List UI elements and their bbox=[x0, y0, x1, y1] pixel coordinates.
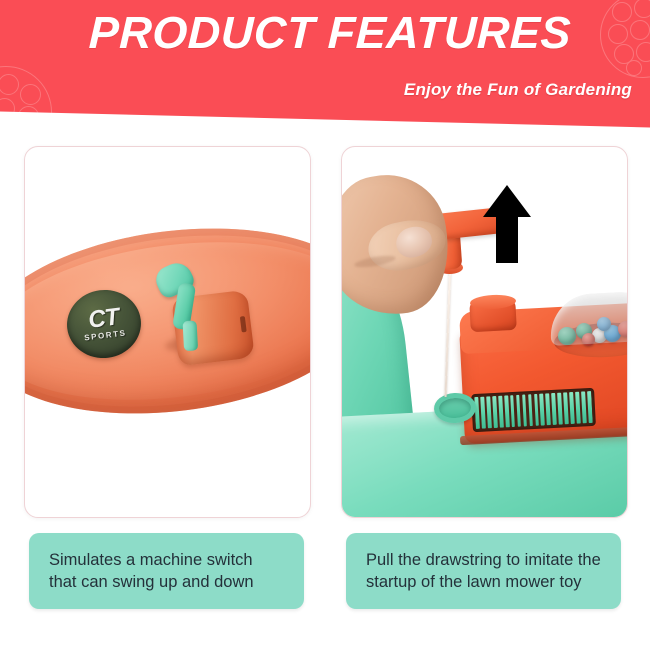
caption-left: Simulates a machine switch that can swin… bbox=[29, 533, 304, 609]
vent-slats bbox=[474, 391, 593, 429]
switch-slot bbox=[240, 316, 247, 332]
feature-panel-right bbox=[341, 146, 628, 518]
product-photo-drawstring bbox=[342, 147, 627, 517]
product-features-page: PRODUCT FEATURES Enjoy the Fun of Garden… bbox=[0, 0, 650, 650]
page-subtitle: Enjoy the Fun of Gardening bbox=[404, 80, 632, 100]
caption-right-text: Pull the drawstring to imitate the start… bbox=[366, 549, 601, 594]
brand-badge-name: CT bbox=[87, 306, 120, 332]
switch-lever bbox=[151, 260, 224, 359]
page-title: PRODUCT FEATURES bbox=[0, 10, 650, 55]
sphere-pattern-icon bbox=[0, 66, 52, 128]
product-photo-switch: CT SPORTS bbox=[25, 147, 310, 517]
header-banner: PRODUCT FEATURES Enjoy the Fun of Garden… bbox=[0, 0, 650, 128]
caption-right: Pull the drawstring to imitate the start… bbox=[346, 533, 621, 609]
vent-grille bbox=[471, 388, 596, 432]
feature-panel-left: CT SPORTS bbox=[24, 146, 311, 518]
drawstring bbox=[445, 269, 452, 397]
caption-left-text: Simulates a machine switch that can swin… bbox=[49, 549, 284, 594]
up-arrow-icon bbox=[481, 183, 533, 265]
clear-dome bbox=[549, 290, 627, 346]
